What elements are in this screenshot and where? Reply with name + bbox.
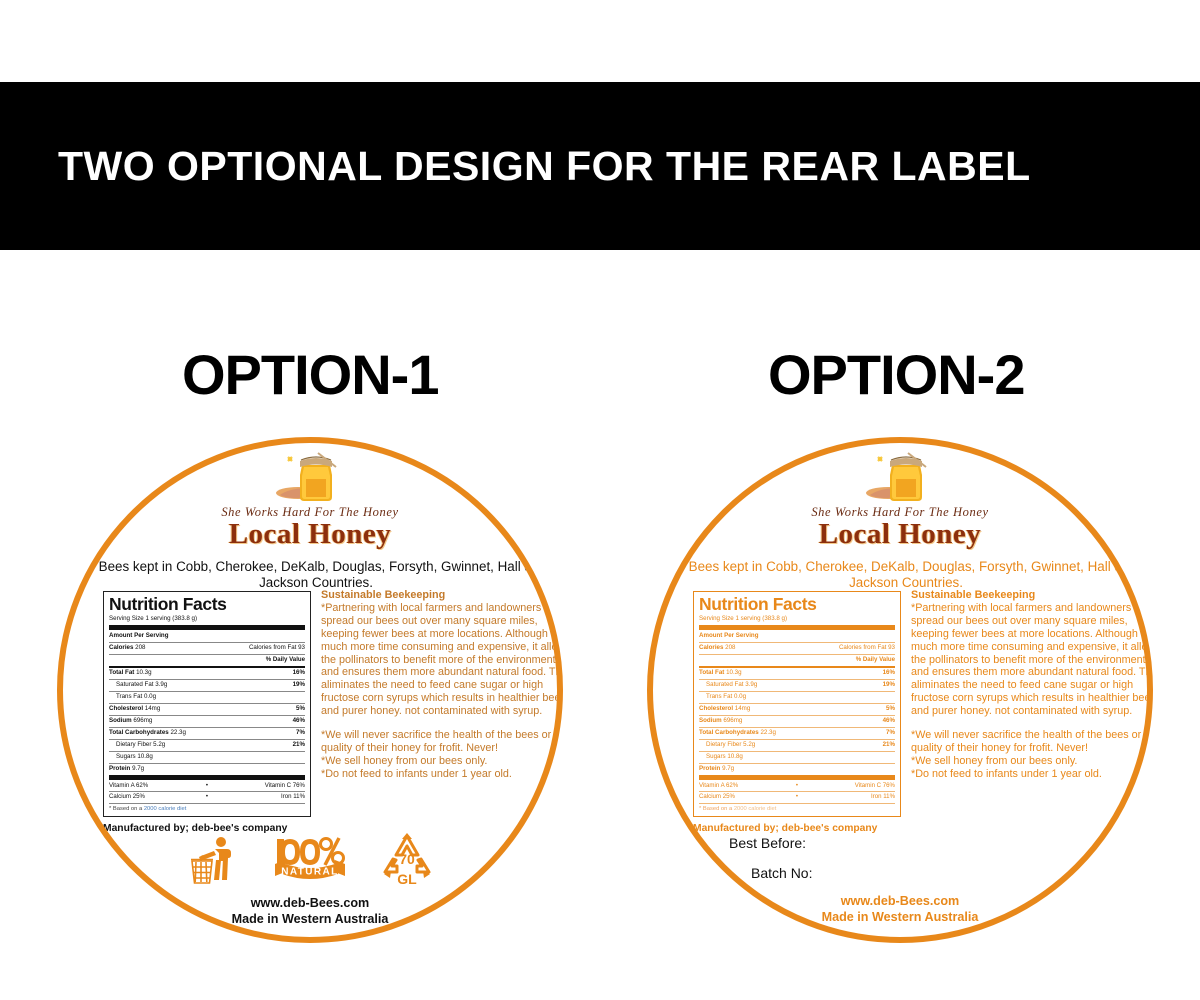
row-label: Sodium [109, 717, 132, 724]
natural-badge-text: NATURAL [281, 867, 338, 878]
table-row: Total Fat 10.3g16% [699, 669, 895, 678]
row-value: 3.9g [155, 681, 167, 688]
nutrition-facts-panel: Nutrition Facts Serving Size 1 serving (… [103, 591, 311, 834]
vitamin-right: Vitamin C 76% [830, 782, 895, 791]
calories-row: Calories 208 Calories from Fat 93 [699, 644, 895, 653]
honey-jar-icon [274, 451, 346, 509]
table-row: Protein 9.7g [699, 765, 895, 774]
daily-value-header: % Daily Value [109, 656, 305, 665]
sustainable-bullet: *Do not feed to infants under 1 year old… [321, 768, 563, 781]
table-row: Saturated Fat 3.9g19% [109, 681, 305, 690]
table-row: Cholesterol 14mg5% [699, 705, 895, 714]
vitamin-right: Iron 11% [830, 793, 895, 802]
divider-med [109, 666, 305, 668]
calories-value: 208 [135, 644, 145, 651]
sustainable-beekeeping-block: Sustainable Beekeeping *Partnering with … [321, 589, 563, 781]
divider-thin [109, 642, 305, 643]
row-label: Sodium [699, 717, 722, 724]
row-dv: 7% [886, 729, 895, 738]
row-value: 10.8g [137, 753, 152, 760]
website-text[interactable]: www.deb-Bees.com [653, 893, 1147, 909]
vitamin-sep: • [764, 782, 829, 791]
vitamin-row: Calcium 25%•Iron 11% [109, 793, 305, 802]
serving-size: Serving Size 1 serving (383.8 g) [109, 615, 305, 624]
row-label: Saturated Fat [706, 681, 744, 688]
table-row: Protein 9.7g [109, 765, 305, 774]
calories-value: 208 [725, 644, 735, 651]
table-row: Sugars 10.8g [699, 753, 895, 762]
header-band: TWO OPTIONAL DESIGN FOR THE REAR LABEL [0, 82, 1200, 250]
website-text[interactable]: www.deb-Bees.com [63, 895, 557, 911]
row-dv: 21% [883, 741, 895, 750]
row-value: 9.7g [722, 765, 734, 772]
vitamin-left: Vitamin A 62% [109, 782, 174, 791]
100-percent-natural-icon: NATURAL [273, 833, 347, 887]
row-dv: 21% [293, 741, 305, 750]
nutrition-facts-title: Nutrition Facts [109, 595, 305, 614]
footnote-link[interactable]: 2000 calorie diet [144, 806, 187, 812]
best-before-label[interactable]: Best Before: [709, 828, 1009, 858]
table-row: Sodium 696mg46% [109, 717, 305, 726]
row-dv: 46% [883, 717, 895, 726]
row-dv: 5% [886, 705, 895, 714]
row-value: 22.3g [760, 729, 775, 736]
counties-text: Bees kept in Cobb, Cherokee, DeKalb, Dou… [87, 559, 545, 591]
calories-from-fat: Calories from Fat 93 [839, 644, 895, 653]
table-row: Dietary Fiber 5.2g21% [109, 741, 305, 750]
vitamin-right: Iron 11% [240, 793, 305, 802]
sustainable-paragraph: *Partnering with local farmers and lando… [911, 602, 1153, 718]
sustainable-paragraph: *Partnering with local farmers and lando… [321, 602, 563, 718]
option-1-label-circle: She Works Hard For The Honey Local Honey… [57, 437, 563, 943]
row-label: Dietary Fiber [706, 741, 741, 748]
certification-icon-row: NATURAL 70 GL [63, 831, 557, 887]
row-label: Protein [699, 765, 720, 772]
sustainable-bullet: *We will never sacrifice the health of t… [911, 729, 1153, 755]
table-row: Total Carbohydrates 22.3g7% [699, 729, 895, 738]
calories-row: Calories 208 Calories from Fat 93 [109, 644, 305, 653]
row-label: Total Fat [109, 669, 134, 676]
made-in-text: Made in Western Australia [63, 911, 557, 927]
batch-no-label[interactable]: Batch No: [709, 858, 1009, 888]
honey-jar-icon [864, 451, 936, 509]
table-row: Saturated Fat 3.9g19% [699, 681, 895, 690]
table-row: Sodium 696mg46% [699, 717, 895, 726]
sustainable-bullet: *Do not feed to infants under 1 year old… [911, 768, 1153, 781]
divider-thick [699, 625, 895, 630]
row-label: Trans Fat [116, 693, 142, 700]
row-dv: 7% [296, 729, 305, 738]
footnote: * Based on a 2000 calorie diet [699, 805, 895, 813]
row-value: 0.0g [734, 693, 746, 700]
row-label: Sugars [116, 753, 136, 760]
nutrition-facts-title: Nutrition Facts [699, 595, 895, 614]
batch-info-block: Best Before: Batch No: [709, 828, 1009, 888]
brand-logo-block: She Works Hard For The Honey Local Honey [653, 451, 1147, 549]
vitamin-sep: • [174, 782, 239, 791]
divider-thick [109, 775, 305, 780]
row-label: Dietary Fiber [116, 741, 151, 748]
sustainable-beekeeping-block: Sustainable Beekeeping *Partnering with … [911, 589, 1153, 781]
vitamin-row: Calcium 25%•Iron 11% [699, 793, 895, 802]
sustainable-bullet: *We sell honey from our bees only. [321, 755, 563, 768]
option-2-label-circle: She Works Hard For The Honey Local Honey… [647, 437, 1153, 943]
recycling-70-gl-icon: 70 GL [381, 831, 433, 887]
vitamin-sep: • [764, 793, 829, 802]
row-label: Protein [109, 765, 130, 772]
vitamin-right: Vitamin C 76% [240, 782, 305, 791]
counties-text: Bees kept in Cobb, Cherokee, DeKalb, Dou… [677, 559, 1135, 591]
row-dv: 19% [293, 681, 305, 690]
serving-size: Serving Size 1 serving (383.8 g) [699, 615, 895, 624]
row-value: 3.9g [745, 681, 757, 688]
vitamin-left: Calcium 25% [699, 793, 764, 802]
row-value: 9.7g [132, 765, 144, 772]
tidyman-bin-icon [187, 835, 239, 887]
table-row: Trans Fat 0.0g [109, 693, 305, 702]
row-dv: 46% [293, 717, 305, 726]
vitamin-left: Calcium 25% [109, 793, 174, 802]
row-value: 22.3g [170, 729, 185, 736]
row-value: 5.2g [743, 741, 755, 748]
row-value: 696mg [133, 717, 152, 724]
row-value: 5.2g [153, 741, 165, 748]
divider-thin [109, 654, 305, 655]
brand-name: Local Honey [63, 520, 557, 549]
row-value: 14mg [735, 705, 750, 712]
vitamin-sep: • [174, 793, 239, 802]
row-value: 0.0g [144, 693, 156, 700]
footnote-link[interactable]: 2000 calorie diet [734, 806, 777, 812]
row-value: 10.3g [136, 669, 151, 676]
vitamin-left: Vitamin A 62% [699, 782, 764, 791]
footnote-pre: * Based on a [109, 806, 144, 812]
option-1-footer: www.deb-Bees.com Made in Western Austral… [63, 895, 557, 927]
footnote-pre: * Based on a [699, 806, 734, 812]
vitamin-row: Vitamin A 62%•Vitamin C 76% [699, 782, 895, 791]
divider-thick [109, 625, 305, 630]
row-label: Total Carbohydrates [699, 729, 759, 736]
row-dv: 5% [296, 705, 305, 714]
row-label: Cholesterol [109, 705, 143, 712]
row-value: 696mg [723, 717, 742, 724]
calories-label: Calories [699, 644, 723, 651]
row-dv: 16% [293, 669, 305, 678]
recycle-number: 70 [399, 851, 415, 867]
divider-med [699, 666, 895, 668]
row-value: 14mg [145, 705, 160, 712]
row-label: Trans Fat [706, 693, 732, 700]
option-2-footer: www.deb-Bees.com Made in Western Austral… [653, 893, 1147, 925]
amount-per-serving-label: Amount Per Serving [109, 632, 168, 641]
calories-from-fat: Calories from Fat 93 [249, 644, 305, 653]
page-title: TWO OPTIONAL DESIGN FOR THE REAR LABEL [58, 143, 1031, 190]
table-row: Sugars 10.8g [109, 753, 305, 762]
sustainable-heading: Sustainable Beekeeping [911, 589, 1153, 602]
divider-thin [699, 642, 895, 643]
sustainable-bullet: *We sell honey from our bees only. [911, 755, 1153, 768]
row-label: Total Carbohydrates [109, 729, 169, 736]
row-label: Total Fat [699, 669, 724, 676]
table-row: Total Carbohydrates 22.3g7% [109, 729, 305, 738]
recycle-code: GL [397, 871, 417, 887]
vitamin-row: Vitamin A 62%•Vitamin C 76% [109, 782, 305, 791]
sustainable-heading: Sustainable Beekeeping [321, 589, 563, 602]
made-in-text: Made in Western Australia [653, 909, 1147, 925]
sustainable-bullet: *We will never sacrifice the health of t… [321, 729, 563, 755]
row-label: Saturated Fat [116, 681, 154, 688]
table-row: Trans Fat 0.0g [699, 693, 895, 702]
daily-value-header: % Daily Value [699, 656, 895, 665]
divider-thick [699, 775, 895, 780]
brand-name: Local Honey [653, 520, 1147, 549]
calories-label: Calories [109, 644, 133, 651]
brand-logo-block: She Works Hard For The Honey Local Honey [63, 451, 557, 549]
amount-per-serving-label: Amount Per Serving [699, 632, 758, 641]
table-row: Cholesterol 14mg5% [109, 705, 305, 714]
row-value: 10.8g [727, 753, 742, 760]
nutrition-facts-panel: Nutrition Facts Serving Size 1 serving (… [693, 591, 901, 834]
footnote: * Based on a 2000 calorie diet [109, 805, 305, 813]
row-dv: 16% [883, 669, 895, 678]
table-row: Dietary Fiber 5.2g21% [699, 741, 895, 750]
table-row: Total Fat 10.3g16% [109, 669, 305, 678]
option-2-title: OPTION-2 [768, 342, 1024, 407]
option-1-title: OPTION-1 [182, 342, 438, 407]
row-value: 10.3g [726, 669, 741, 676]
row-dv: 19% [883, 681, 895, 690]
row-label: Sugars [706, 753, 726, 760]
row-label: Cholesterol [699, 705, 733, 712]
